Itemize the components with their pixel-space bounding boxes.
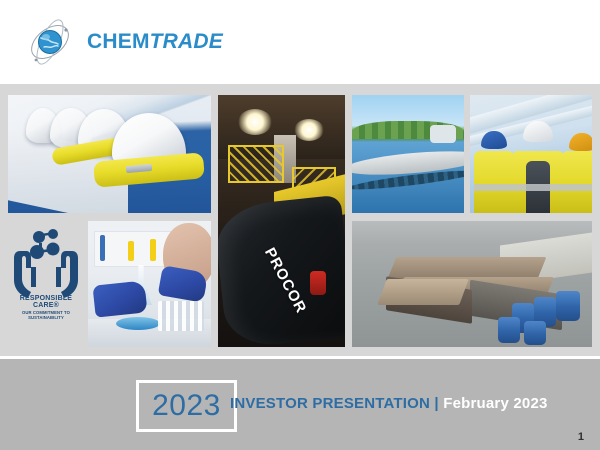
photo-laboratory-image	[88, 221, 211, 347]
photo-workers-inspection-image	[470, 95, 592, 213]
year-label: 2023	[152, 391, 221, 421]
photo-rail-tank-car: PROCOR	[218, 95, 345, 347]
photo-aerial-plant-image	[352, 221, 592, 347]
photo-collage-band: RESPONSIBLE CARE® OUR COMMITMENT TO SUST…	[0, 84, 600, 358]
photo-water-treatment	[352, 95, 464, 213]
footer-title: INVESTOR PRESENTATION | February 2023	[230, 395, 548, 412]
chemtrade-logo: CHEMTRADE	[22, 14, 223, 70]
responsible-care-subtitle-2: SUSTAINABILITY	[8, 316, 84, 321]
photo-laboratory	[88, 221, 211, 347]
photo-safety-gear	[8, 95, 211, 213]
responsible-care-logo: RESPONSIBLE CARE® OUR COMMITMENT TO SUST…	[8, 221, 84, 327]
year-badge: 2023	[136, 380, 237, 432]
slide-header: CHEMTRADE	[0, 0, 600, 84]
footer-title-date: February 2023	[443, 395, 547, 412]
photo-workers-inspection	[470, 95, 592, 213]
responsible-care-title: RESPONSIBLE CARE®	[8, 295, 84, 310]
brand-chem: CHEM	[87, 30, 150, 53]
page-number: 1	[578, 431, 584, 443]
photo-rail-tank-car-image: PROCOR	[218, 95, 345, 347]
slide-footer: 2023 INVESTOR PRESENTATION | February 20…	[0, 359, 600, 450]
slide: CHEMTRADE	[0, 0, 600, 450]
brand-wordmark: CHEMTRADE	[87, 31, 223, 54]
responsible-care-text: RESPONSIBLE CARE® OUR COMMITMENT TO SUST…	[8, 295, 84, 320]
footer-title-main: INVESTOR PRESENTATION |	[230, 395, 439, 412]
globe-orbit-icon	[22, 14, 78, 70]
photo-water-treatment-image	[352, 95, 464, 213]
photo-safety-gear-image	[8, 95, 211, 213]
hands-holding-molecule-icon	[8, 221, 84, 299]
photo-aerial-plant	[352, 221, 592, 347]
brand-trade: TRADE	[150, 30, 223, 53]
